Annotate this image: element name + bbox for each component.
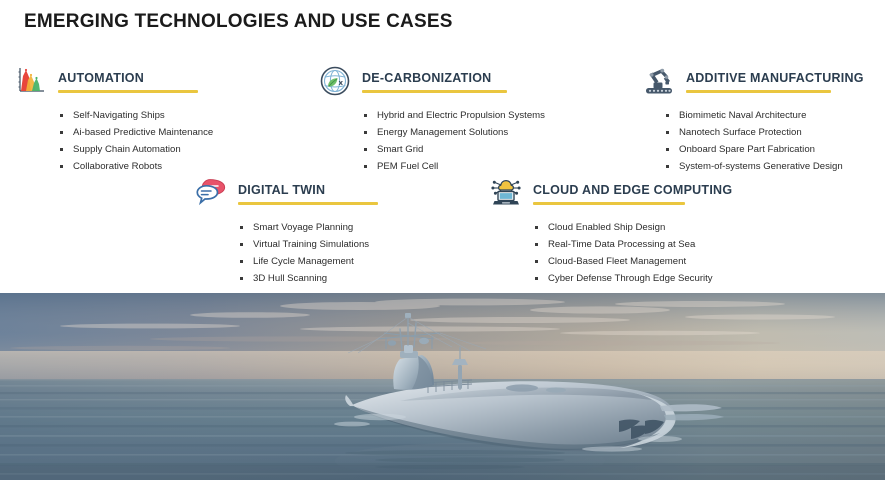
title-underline (238, 202, 378, 205)
list-item: Collaborative Robots (58, 158, 213, 175)
topic-title: DIGITAL TWIN (238, 183, 378, 197)
list-item: Cloud-Based Fleet Management (533, 253, 732, 270)
speech-bubbles-icon (194, 176, 228, 210)
topic-cloudedge: CLOUD AND EDGE COMPUTING Cloud Enabled S… (489, 180, 732, 287)
list-item: Biomimetic Naval Architecture (664, 107, 864, 124)
list-item: System-of-systems Generative Design (664, 158, 864, 175)
topic-title: ADDITIVE MANUFACTURING (686, 71, 864, 85)
list-item: PEM Fuel Cell (362, 158, 545, 175)
topic-title-wrap: CLOUD AND EDGE COMPUTING (533, 180, 732, 205)
co2-leaf-globe-icon: x (318, 64, 352, 98)
title-underline (362, 90, 507, 93)
topic-additive: ADDITIVE MANUFACTURING Biomimetic Naval … (642, 68, 864, 175)
laptop-cloud-network-icon (489, 176, 523, 210)
list-item: 3D Hull Scanning (238, 270, 378, 287)
topic-header: CLOUD AND EDGE COMPUTING (489, 180, 732, 210)
list-item: Onboard Spare Part Fabrication (664, 141, 864, 158)
topic-digitaltwin: DIGITAL TWIN Smart Voyage Planning Virtu… (194, 180, 378, 287)
robotic-arm-icon (642, 64, 676, 98)
list-item: Ai-based Predictive Maintenance (58, 124, 213, 141)
topic-title-wrap: ADDITIVE MANUFACTURING (686, 68, 864, 93)
list-item: Smart Voyage Planning (238, 219, 378, 236)
slide-root: EMERGING TECHNOLOGIES AND USE CASES (0, 0, 885, 480)
topic-decarbonization: x DE-CARBONIZATION Hybrid and Electric P… (318, 68, 545, 175)
svg-text:x: x (339, 79, 344, 87)
list-item: Real-Time Data Processing at Sea (533, 236, 732, 253)
topic-list: Cloud Enabled Ship Design Real-Time Data… (533, 219, 732, 287)
topic-title-wrap: DE-CARBONIZATION (362, 68, 507, 93)
topic-list: Smart Voyage Planning Virtual Training S… (238, 219, 378, 287)
page-title: EMERGING TECHNOLOGIES AND USE CASES (24, 11, 453, 33)
list-item: Nanotech Surface Protection (664, 124, 864, 141)
topic-list: Hybrid and Electric Propulsion Systems E… (362, 107, 545, 175)
list-item: Hybrid and Electric Propulsion Systems (362, 107, 545, 124)
title-underline (533, 202, 685, 205)
list-item: Life Cycle Management (238, 253, 378, 270)
topic-title-wrap: AUTOMATION (58, 68, 198, 93)
title-underline (686, 90, 831, 93)
topic-list: Biomimetic Naval Architecture Nanotech S… (664, 107, 864, 175)
list-item: Supply Chain Automation (58, 141, 213, 158)
list-item: Virtual Training Simulations (238, 236, 378, 253)
submarine-at-sea-photo (0, 293, 885, 480)
title-underline (58, 90, 198, 93)
topic-title: CLOUD AND EDGE COMPUTING (533, 183, 732, 197)
topic-header: x DE-CARBONIZATION (318, 68, 545, 98)
topic-header: DIGITAL TWIN (194, 180, 378, 210)
list-item: Self-Navigating Ships (58, 107, 213, 124)
topic-title: AUTOMATION (58, 71, 198, 85)
topic-header: AUTOMATION (14, 68, 213, 98)
topic-title: DE-CARBONIZATION (362, 71, 507, 85)
list-item: Energy Management Solutions (362, 124, 545, 141)
topic-title-wrap: DIGITAL TWIN (238, 180, 378, 205)
topic-list: Self-Navigating Ships Ai-based Predictiv… (58, 107, 213, 175)
list-item: Cloud Enabled Ship Design (533, 219, 732, 236)
list-item: Cyber Defense Through Edge Security (533, 270, 732, 287)
histogram-chart-icon (14, 64, 48, 98)
list-item: Smart Grid (362, 141, 545, 158)
topic-header: ADDITIVE MANUFACTURING (642, 68, 864, 98)
topic-automation: AUTOMATION Self-Navigating Ships Ai-base… (14, 68, 213, 175)
